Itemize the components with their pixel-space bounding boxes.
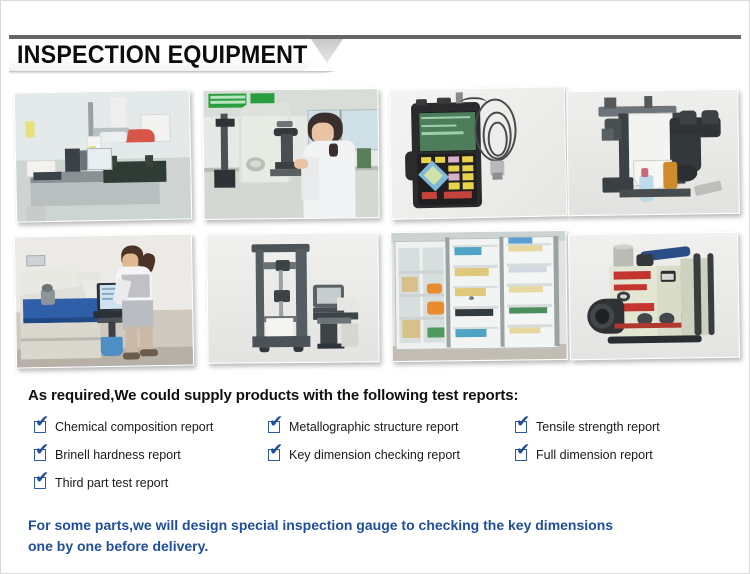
report-label: Brinell hardness report — [55, 447, 181, 464]
check-icon: ✔ — [35, 443, 49, 457]
photo-universal-tensile-testing-machine[interactable] — [206, 232, 379, 363]
photo-xray-flaw-detector[interactable] — [568, 232, 740, 361]
photo-metallurgical-microscope[interactable] — [566, 89, 740, 216]
page-title: INSPECTION EQUIPMENT — [17, 41, 308, 69]
inspection-gauge-note: For some parts,we will design special in… — [28, 515, 728, 557]
photo-spectrometer-analysis[interactable] — [14, 233, 194, 368]
equipment-photo-grid — [1, 87, 750, 377]
reports-row-3: ✔ Third part test report — [1, 475, 750, 503]
report-label: Third part test report — [55, 475, 168, 492]
reports-headline: As required,We could supply products wit… — [28, 387, 518, 404]
report-label: Full dimension report — [536, 447, 653, 464]
report-label: Chemical composition report — [55, 419, 213, 436]
photo-sample-storage-cabinets[interactable] — [390, 230, 568, 362]
check-icon: ✔ — [516, 415, 530, 429]
check-icon: ✔ — [35, 415, 49, 429]
banner-rule — [9, 35, 741, 39]
photo-ultrasonic-flaw-detector[interactable] — [389, 86, 568, 220]
section-banner: INSPECTION EQUIPMENT — [1, 31, 750, 77]
check-icon: ✔ — [35, 471, 49, 485]
note-line-1: For some parts,we will design special in… — [28, 515, 728, 536]
check-icon: ✔ — [516, 443, 530, 457]
banner-shadow — [9, 71, 335, 74]
photo-hardness-tester-operator[interactable] — [202, 88, 379, 220]
photo-coordinate-measuring-machine[interactable] — [14, 89, 192, 222]
check-icon: ✔ — [269, 443, 283, 457]
note-line-2: one by one before delivery. — [28, 536, 728, 557]
reports-row-2: ✔ Brinell hardness report ✔ Key dimensio… — [1, 447, 750, 475]
report-label: Metallographic structure report — [289, 419, 459, 436]
product-detail-page: INSPECTION EQUIPMENT — [0, 0, 750, 574]
report-label: Tensile strength report — [536, 419, 660, 436]
reports-row-1: ✔ Chemical composition report ✔ Metallog… — [1, 419, 750, 447]
check-icon: ✔ — [269, 415, 283, 429]
report-label: Key dimension checking report — [289, 447, 460, 464]
